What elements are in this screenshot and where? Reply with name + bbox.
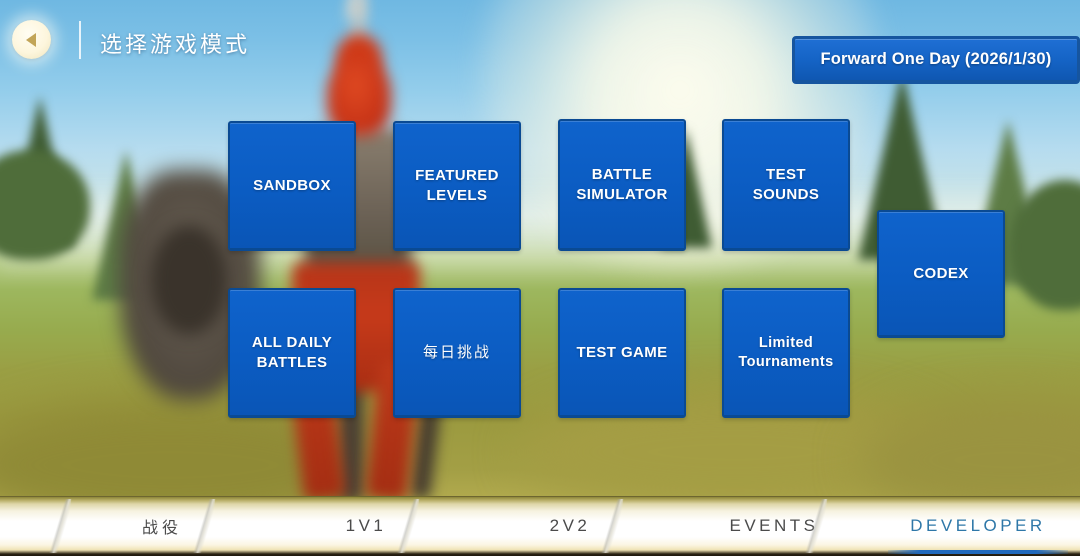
mode-button-sandbox[interactable]: SANDBOX: [228, 121, 356, 251]
nav-tab-campaign[interactable]: 战役: [60, 497, 264, 554]
nav-tab-1v1[interactable]: 1V1: [264, 497, 468, 554]
mode-button-limited-tournaments[interactable]: Limited Tournaments: [722, 288, 850, 418]
mode-button-battle-simulator[interactable]: BATTLE SIMULATOR: [558, 119, 686, 251]
nav-tab-label: DEVELOPER: [910, 516, 1045, 536]
mode-button-featured-levels[interactable]: FEATURED LEVELS: [393, 121, 521, 251]
mode-button-label: FEATURED LEVELS: [409, 166, 505, 204]
mode-button-label: TEST SOUNDS: [747, 165, 826, 203]
mode-button-label: SANDBOX: [247, 176, 337, 195]
mode-button-test-sounds[interactable]: TEST SOUNDS: [722, 119, 850, 251]
nav-tab-label: 战役: [142, 514, 182, 538]
mode-button-codex[interactable]: CODEX: [877, 210, 1005, 338]
nav-tab-label: EVENTS: [729, 516, 818, 536]
mode-button-label: ALL DAILY BATTLES: [246, 333, 338, 371]
bottom-tab-bar: 战役1V12V2EVENTSDEVELOPER: [0, 496, 1080, 556]
nav-tab-events[interactable]: EVENTS: [672, 497, 876, 554]
mode-button-label: Limited Tournaments: [732, 334, 839, 371]
mode-button-grid: SANDBOXFEATURED LEVELSBATTLE SIMULATORTE…: [0, 0, 1080, 556]
mode-button-label: TEST GAME: [570, 343, 673, 362]
nav-tab-label: 1V1: [346, 516, 387, 536]
mode-button-test-game[interactable]: TEST GAME: [558, 288, 686, 418]
mode-button-label: 每日挑战: [417, 343, 497, 362]
nav-tab-label: 2V2: [550, 516, 591, 536]
mode-button-all-daily-battles[interactable]: ALL DAILY BATTLES: [228, 288, 356, 418]
mode-button-label: BATTLE SIMULATOR: [570, 165, 673, 203]
mode-button-daily-challenge[interactable]: 每日挑战: [393, 288, 521, 418]
mode-button-label: CODEX: [907, 264, 974, 283]
nav-tab-2v2[interactable]: 2V2: [468, 497, 672, 554]
nav-tab-developer[interactable]: DEVELOPER: [876, 497, 1080, 554]
game-mode-select-screen: 选择游戏模式 Forward One Day (2026/1/30) SANDB…: [0, 0, 1080, 556]
